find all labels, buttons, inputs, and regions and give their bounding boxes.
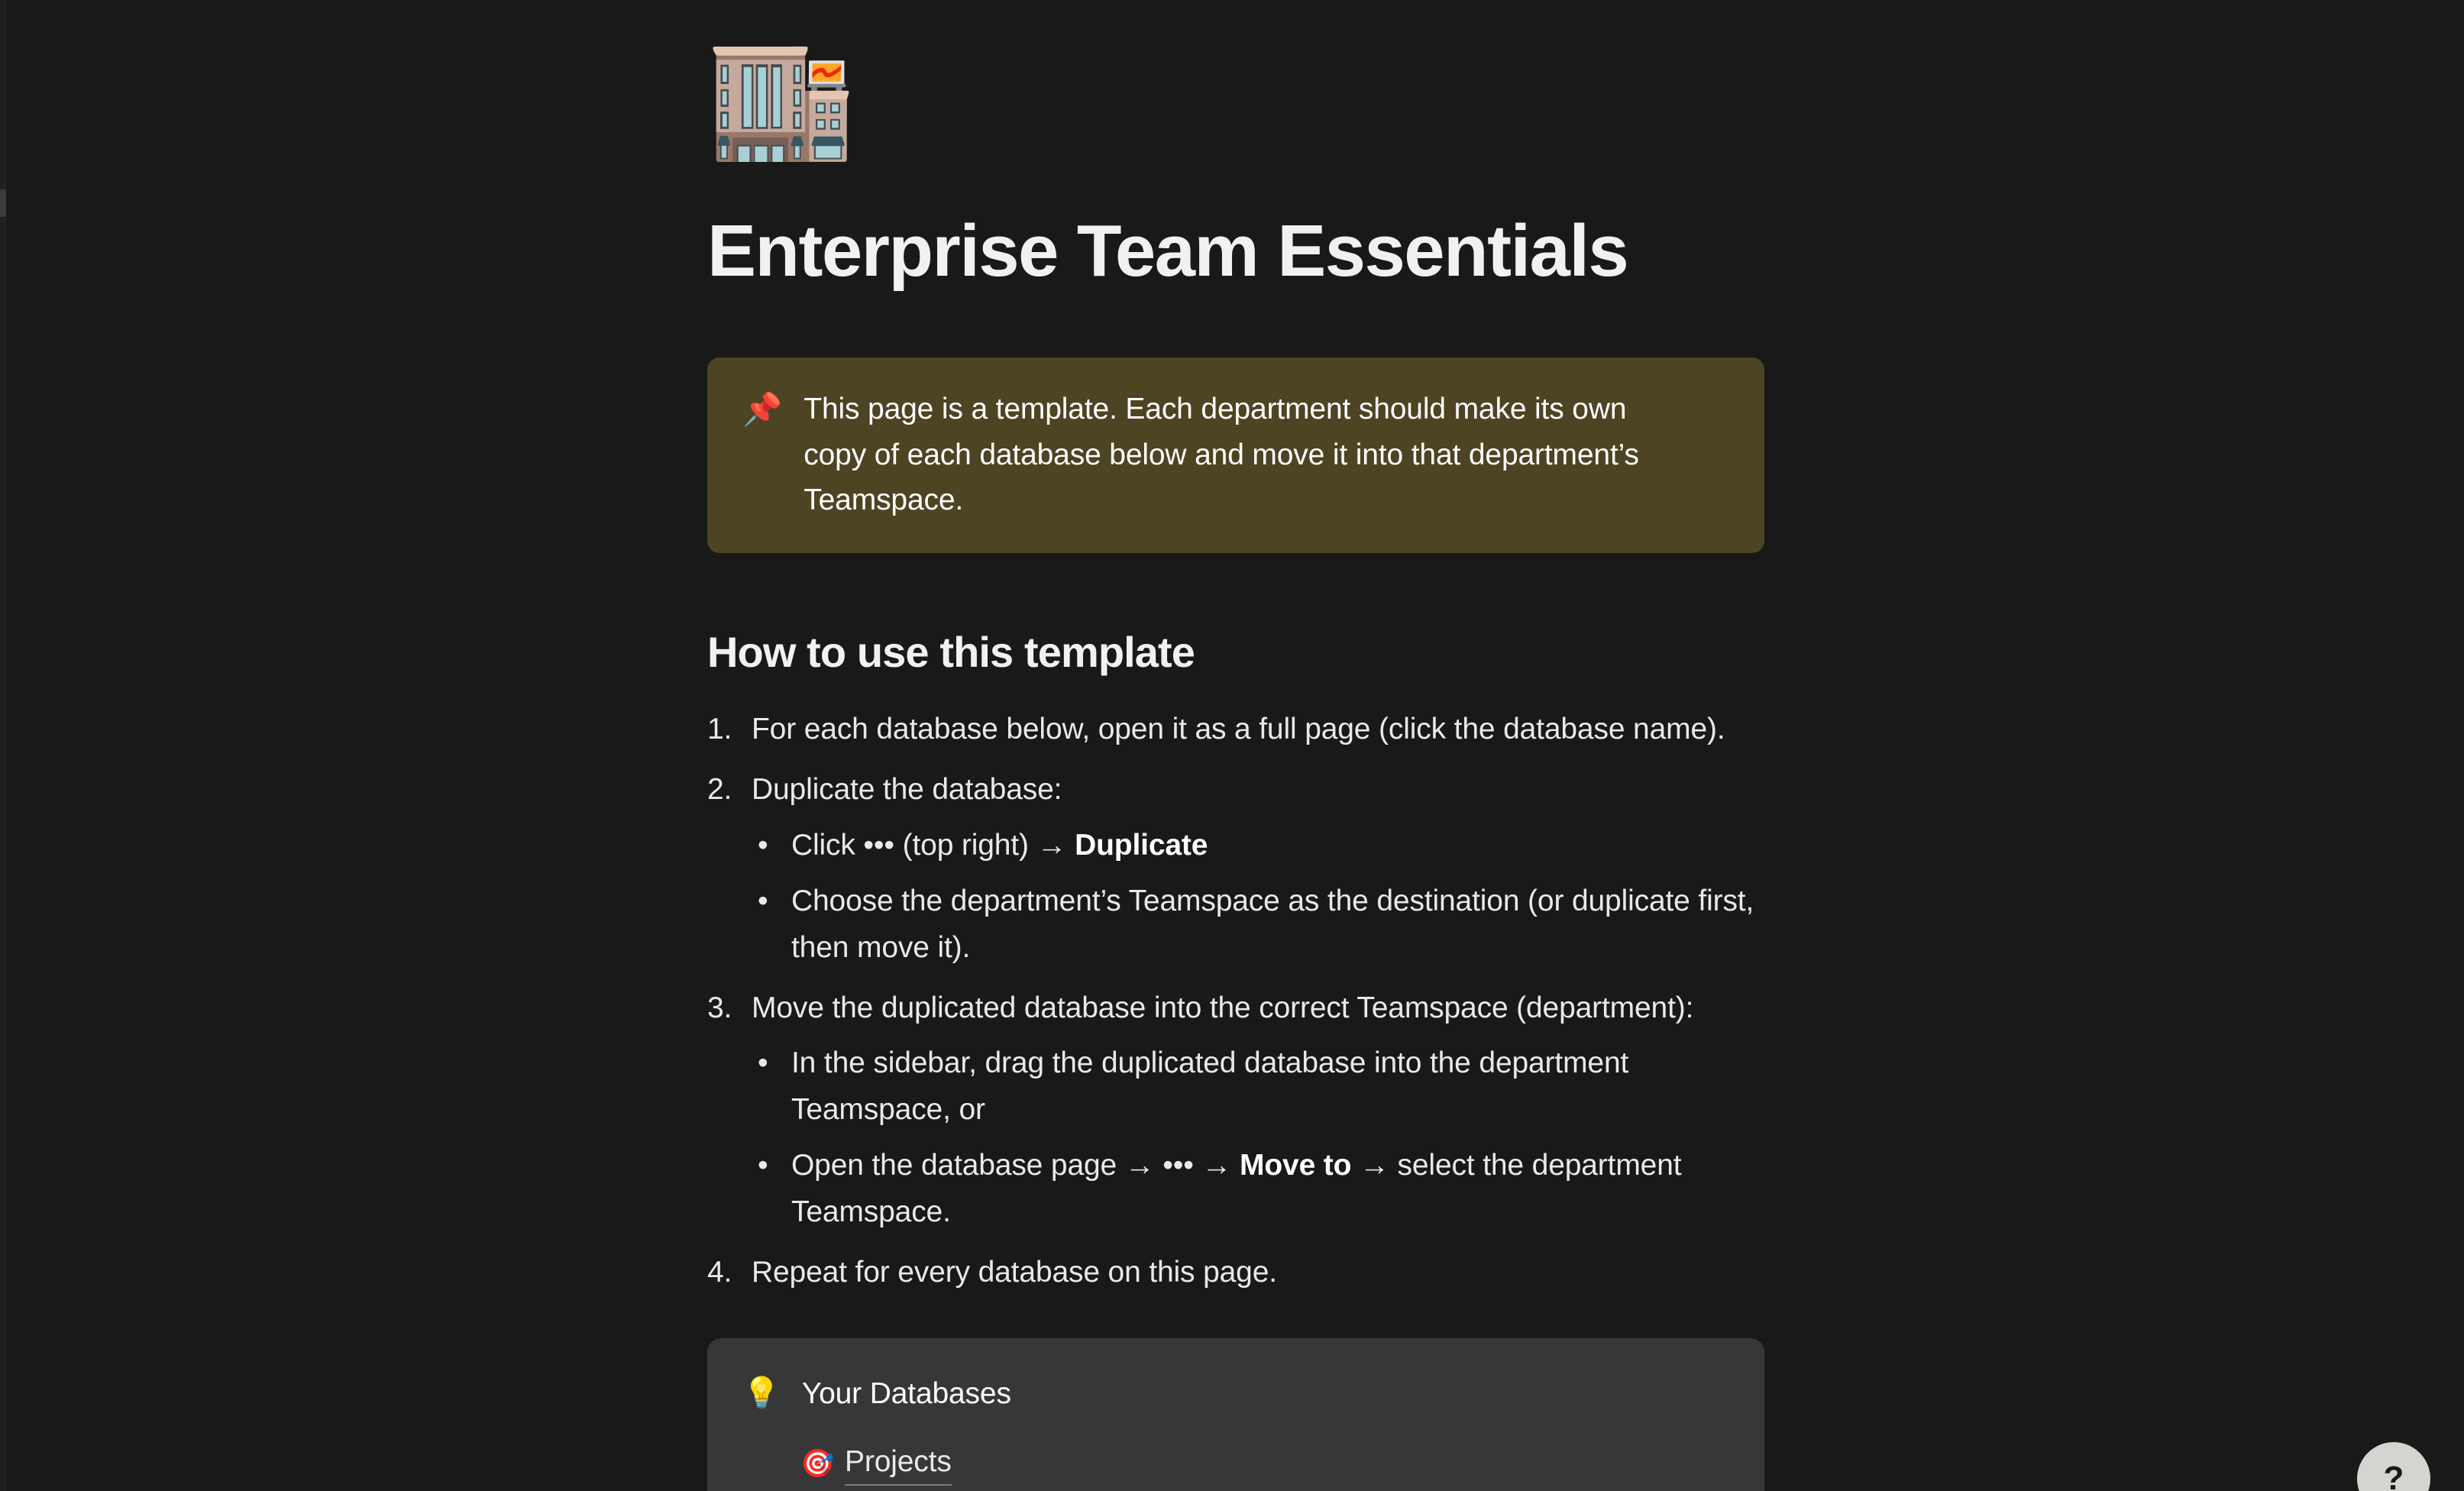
page-canvas: 🏬 Enterprise Team Essentials 📌 This page… bbox=[0, 0, 2464, 1491]
sub-item-text: In the sidebar, drag the duplicated data… bbox=[791, 1046, 1628, 1126]
how-to-steps-list: 1.For each database below, open it as a … bbox=[707, 707, 1764, 1295]
sub-item-text: Choose the department’s Teamspace as the… bbox=[791, 885, 1754, 964]
sub-item-text: Click ••• (top right) → Duplicate bbox=[791, 829, 1208, 862]
step-number: 4. bbox=[707, 1250, 741, 1296]
step-number: 1. bbox=[707, 707, 741, 753]
step-sub-item: •Choose the department’s Teamspace as th… bbox=[752, 878, 1764, 972]
step-sub-item: •Open the database page → ••• → Move to … bbox=[752, 1143, 1764, 1236]
step-sub-item: •In the sidebar, drag the duplicated dat… bbox=[752, 1040, 1764, 1134]
your-databases-header: 💡 Your Databases bbox=[742, 1372, 1729, 1417]
database-list-item[interactable]: ✅Tasks bbox=[800, 1487, 1729, 1491]
light-bulb-icon: 💡 bbox=[742, 1372, 781, 1415]
step-text: For each database below, open it as a fu… bbox=[752, 713, 1725, 745]
emphasized-term: Duplicate bbox=[1075, 829, 1208, 862]
plain-text: Choose the department’s Teamspace as the… bbox=[791, 885, 1754, 964]
your-databases-callout: 💡 Your Databases 🎯Projects✅Tasks🚴Trainin… bbox=[707, 1338, 1764, 1491]
bullet-icon: • bbox=[758, 823, 768, 869]
bullet-icon: • bbox=[758, 1040, 768, 1087]
database-links-list: 🎯Projects✅Tasks🚴Training & Onboarding🎴As… bbox=[800, 1441, 1729, 1491]
template-notice-callout: 📌 This page is a template. Each departme… bbox=[707, 357, 1764, 553]
how-to-step: 1.For each database below, open it as a … bbox=[707, 707, 1764, 753]
plain-text: Open the database page → ••• → bbox=[791, 1149, 1240, 1182]
step-text: Duplicate the database: bbox=[752, 773, 1062, 806]
bullet-icon: • bbox=[758, 878, 768, 925]
step-text: Repeat for every database on this page. bbox=[752, 1256, 1277, 1289]
pushpin-icon: 📌 bbox=[742, 386, 782, 432]
step-number: 3. bbox=[707, 985, 741, 1032]
bullseye-emoji: 🎯 bbox=[800, 1451, 833, 1478]
step-sub-item: •Click ••• (top right) → Duplicate bbox=[752, 823, 1764, 869]
step-sub-list: •Click ••• (top right) → Duplicate•Choos… bbox=[752, 823, 1764, 971]
how-to-step: 4.Repeat for every database on this page… bbox=[707, 1250, 1764, 1296]
database-link[interactable]: Projects bbox=[845, 1443, 952, 1486]
step-number: 2. bbox=[707, 767, 741, 813]
step-text: Move the duplicated database into the co… bbox=[752, 991, 1693, 1024]
database-list-item[interactable]: 🎯Projects bbox=[800, 1441, 1729, 1487]
help-button[interactable]: ? bbox=[2357, 1442, 2430, 1491]
emphasized-term: Move to bbox=[1240, 1149, 1351, 1182]
how-to-step: 3.Move the duplicated database into the … bbox=[707, 985, 1764, 1236]
page-icon-department-store-emoji[interactable]: 🏬 bbox=[707, 37, 1764, 162]
plain-text: Click ••• (top right) → bbox=[791, 829, 1075, 862]
bullet-icon: • bbox=[758, 1143, 768, 1189]
step-sub-list: •In the sidebar, drag the duplicated dat… bbox=[752, 1040, 1764, 1235]
page-content-column: 🏬 Enterprise Team Essentials 📌 This page… bbox=[707, 0, 1764, 1491]
template-notice-text: This page is a template. Each department… bbox=[804, 386, 1659, 522]
your-databases-title: Your Databases bbox=[802, 1372, 1011, 1417]
section-heading-how-to-use: How to use this template bbox=[707, 626, 1764, 678]
plain-text: In the sidebar, drag the duplicated data… bbox=[791, 1046, 1628, 1126]
sub-item-text: Open the database page → ••• → Move to →… bbox=[791, 1149, 1681, 1228]
page-title: Enterprise Team Essentials bbox=[707, 209, 1764, 293]
how-to-step: 2.Duplicate the database:•Click ••• (top… bbox=[707, 767, 1764, 971]
